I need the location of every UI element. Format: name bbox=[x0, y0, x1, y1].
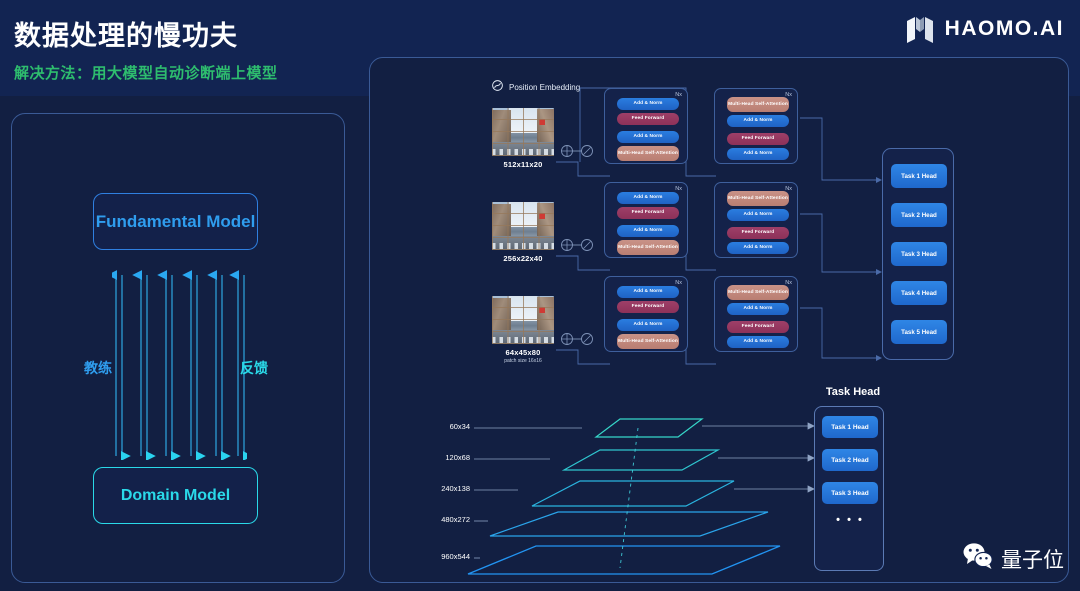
resolution-label-3: 240x138 bbox=[414, 484, 470, 493]
task-head-3[interactable]: Task 3 Head bbox=[891, 242, 947, 266]
left-diagram-panel: Fundamental Model bbox=[11, 113, 345, 583]
fundamental-model-box: Fundamental Model bbox=[93, 193, 258, 250]
block-add-norm: Add & Norm bbox=[617, 319, 679, 331]
street-scene-thumbnail bbox=[492, 108, 554, 156]
block-add-norm: Add & Norm bbox=[727, 242, 789, 254]
input-thumbnail-3: 64x45x80 patch size 16x16 bbox=[492, 296, 554, 364]
block-add-norm: Add & Norm bbox=[617, 98, 679, 110]
block-add-norm: Add & Norm bbox=[727, 209, 789, 221]
street-scene-thumbnail bbox=[492, 202, 554, 250]
task-head-5[interactable]: Task 5 Head bbox=[891, 320, 947, 344]
block-multi-head-attention: Multi-Head Self-Attention bbox=[727, 285, 789, 300]
encoder-block-r3c1: Nx Add & Norm Feed Forward Add & Norm Mu… bbox=[604, 276, 688, 352]
task-head-column-upper: Task 1 Head Task 2 Head Task 3 Head Task… bbox=[882, 148, 954, 360]
domain-model-label: Domain Model bbox=[121, 486, 230, 506]
watermark-text: 量子位 bbox=[1001, 544, 1064, 574]
patch-grid-overlay bbox=[492, 202, 554, 250]
block-add-norm: Add & Norm bbox=[617, 192, 679, 204]
train-label: 教练 bbox=[84, 358, 112, 378]
block-feed-forward: Feed Forward bbox=[617, 301, 679, 313]
task-head-1[interactable]: Task 1 Head bbox=[891, 164, 947, 188]
nx-label: Nx bbox=[675, 280, 682, 286]
task-head-column-lower: Task 1 Head Task 2 Head Task 3 Head • • … bbox=[814, 406, 884, 571]
encoder-block-r2c1: Nx Add & Norm Feed Forward Add & Norm Mu… bbox=[604, 182, 688, 258]
encoder-block-r1c1: Nx Add & Norm Feed Forward Add & Norm Mu… bbox=[604, 88, 688, 164]
input-thumbnail-2: 256x22x40 bbox=[492, 202, 554, 263]
block-multi-head-attention: Multi-Head Self-Attention bbox=[617, 240, 679, 255]
input-resolution-label: 512x11x20 bbox=[492, 160, 554, 169]
add-operator-3 bbox=[558, 326, 606, 352]
page-subtitle: 解决方法：用大模型自动诊断端上模型 bbox=[14, 62, 278, 83]
block-add-norm: Add & Norm bbox=[727, 303, 789, 315]
resolution-label-4: 480x272 bbox=[414, 515, 470, 524]
patch-grid-overlay bbox=[492, 296, 554, 344]
street-scene-thumbnail bbox=[492, 296, 554, 344]
pyramid-task-head-3[interactable]: Task 3 Head bbox=[822, 482, 878, 504]
task-head-2[interactable]: Task 2 Head bbox=[891, 203, 947, 227]
nx-label: Nx bbox=[675, 92, 682, 98]
block-add-norm: Add & Norm bbox=[617, 286, 679, 298]
block-feed-forward: Feed Forward bbox=[617, 113, 679, 125]
block-add-norm: Add & Norm bbox=[617, 131, 679, 143]
block-feed-forward: Feed Forward bbox=[727, 321, 789, 333]
block-feed-forward: Feed Forward bbox=[727, 133, 789, 145]
patch-grid-overlay bbox=[492, 108, 554, 156]
encoder-block-r3c2: Nx Multi-Head Self-Attention Add & Norm … bbox=[714, 276, 798, 352]
input-resolution-label: 64x45x80 bbox=[492, 348, 554, 357]
add-operator-1 bbox=[558, 138, 606, 164]
input-resolution-label: 256x22x40 bbox=[492, 254, 554, 263]
patch-size-label: patch size 16x16 bbox=[492, 358, 554, 364]
pyramid-task-head-1[interactable]: Task 1 Head bbox=[822, 416, 878, 438]
bidirectional-arrow-field bbox=[112, 260, 247, 460]
encoder-block-r1c2: Nx Multi-Head Self-Attention Add & Norm … bbox=[714, 88, 798, 164]
block-feed-forward: Feed Forward bbox=[727, 227, 789, 239]
resolution-label-5: 960x544 bbox=[414, 552, 470, 561]
watermark: 量子位 bbox=[962, 542, 1064, 575]
resolution-label-2: 120x68 bbox=[414, 453, 470, 462]
wechat-icon bbox=[962, 542, 994, 575]
nx-label: Nx bbox=[675, 186, 682, 192]
block-add-norm: Add & Norm bbox=[727, 148, 789, 160]
block-multi-head-attention: Multi-Head Self-Attention bbox=[617, 146, 679, 161]
more-task-heads-indicator: • • • bbox=[822, 515, 878, 526]
page-title: 数据处理的慢功夫 bbox=[14, 14, 238, 53]
pyramid-task-head-2[interactable]: Task 2 Head bbox=[822, 449, 878, 471]
block-add-norm: Add & Norm bbox=[727, 115, 789, 127]
block-feed-forward: Feed Forward bbox=[617, 207, 679, 219]
brand-name: HAOMO.AI bbox=[945, 17, 1064, 41]
feedback-label: 反馈 bbox=[240, 358, 268, 378]
resolution-label-1: 60x34 bbox=[414, 422, 470, 431]
add-operator-2 bbox=[558, 232, 606, 258]
block-multi-head-attention: Multi-Head Self-Attention bbox=[617, 334, 679, 349]
block-multi-head-attention: Multi-Head Self-Attention bbox=[727, 97, 789, 112]
block-add-norm: Add & Norm bbox=[727, 336, 789, 348]
haomo-m-logo-icon bbox=[905, 14, 935, 44]
encoder-block-r2c2: Nx Multi-Head Self-Attention Add & Norm … bbox=[714, 182, 798, 258]
brand-logo: HAOMO.AI bbox=[905, 14, 1064, 44]
domain-model-box: Domain Model bbox=[93, 467, 258, 524]
block-multi-head-attention: Multi-Head Self-Attention bbox=[727, 191, 789, 206]
input-thumbnail-1: 512x11x20 bbox=[492, 108, 554, 169]
right-architecture-panel: Position Embedding bbox=[369, 57, 1069, 583]
slide-canvas: 数据处理的慢功夫 解决方法：用大模型自动诊断端上模型 HAOMO.AI Fund… bbox=[0, 0, 1080, 591]
task-head-4[interactable]: Task 4 Head bbox=[891, 281, 947, 305]
fundamental-model-label: Fundamental Model bbox=[96, 211, 256, 232]
block-add-norm: Add & Norm bbox=[617, 225, 679, 237]
